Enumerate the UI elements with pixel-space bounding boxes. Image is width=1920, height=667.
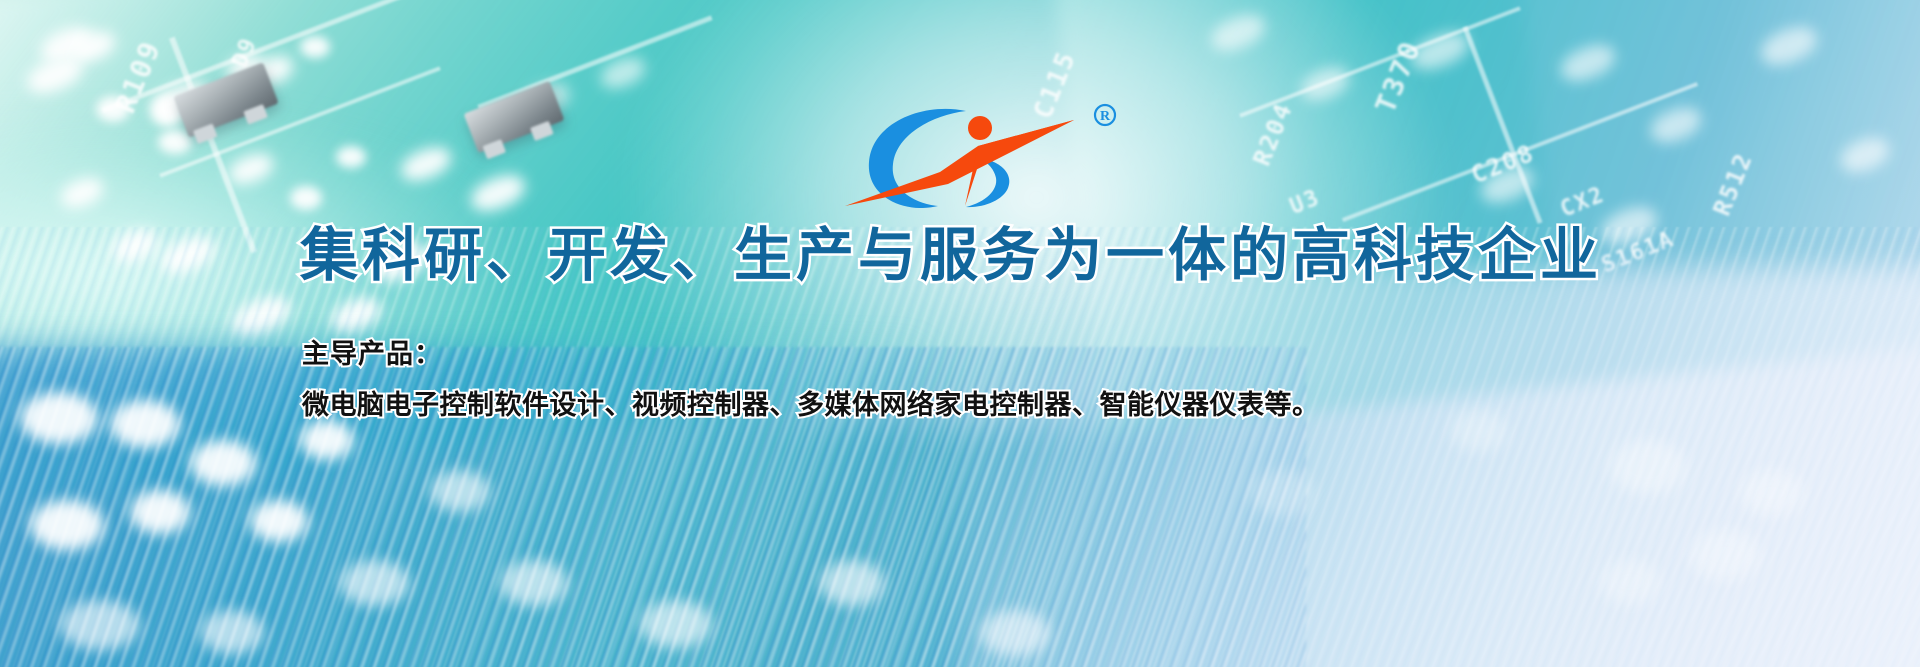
bokeh-blob	[20, 392, 98, 444]
products-list: 微电脑电子控制软件设计、视频控制器、多媒体网络家电控制器、智能仪器仪表等。	[302, 383, 1320, 422]
svg-text:R: R	[1100, 109, 1111, 124]
bokeh-blob	[1450, 410, 1508, 452]
bokeh-blob	[430, 470, 490, 512]
hero-banner: R109 C115 T370 R204 C208 CX2 S161A R512 …	[0, 0, 1920, 667]
bokeh-blob	[30, 500, 104, 550]
bokeh-blob	[190, 440, 256, 486]
bokeh-blob	[820, 560, 884, 606]
solder-pad	[300, 36, 330, 58]
bokeh-blob	[1610, 440, 1686, 494]
products-label: 主导产品：	[302, 332, 442, 371]
bokeh-blob	[1600, 560, 1660, 604]
company-logo[interactable]: R	[828, 88, 1128, 208]
bokeh-blob	[60, 600, 140, 650]
registered-trademark-icon: R	[1093, 103, 1117, 127]
bokeh-blob	[1690, 530, 1760, 580]
bokeh-blob	[640, 600, 712, 648]
background-right-wash	[960, 267, 1920, 667]
logo-mark-icon	[828, 88, 1128, 208]
page-title: 集科研、开发、生产与服务为一体的高科技企业	[300, 222, 1620, 290]
bokeh-blob	[250, 500, 308, 542]
bokeh-blob	[110, 400, 180, 448]
bokeh-blob	[340, 560, 410, 606]
bokeh-blob	[200, 610, 264, 654]
bokeh-blob	[500, 560, 568, 606]
solder-pad	[290, 186, 322, 210]
bokeh-blob	[300, 420, 354, 460]
bokeh-blob	[1250, 470, 1314, 516]
bokeh-blob	[130, 490, 190, 534]
solder-pad	[96, 96, 130, 122]
bokeh-blob	[1740, 470, 1804, 516]
solder-pad	[336, 146, 366, 168]
